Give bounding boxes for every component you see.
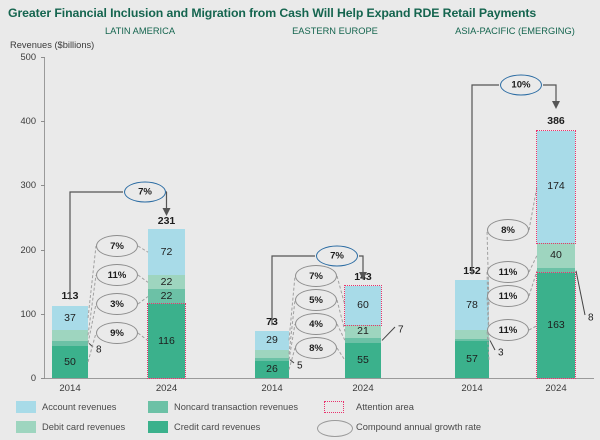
segment-cagr-badge-debit: 11% (96, 264, 138, 286)
legend-swatch-cagr-ellipse (317, 420, 353, 437)
segment-cagr-badge-noncard: 4% (295, 313, 337, 335)
chart-root: Greater Financial Inclusion and Migratio… (0, 0, 600, 440)
legend-label-attention-area: Attention area (356, 402, 414, 412)
segment-cagr-badge-noncard: 11% (487, 285, 529, 307)
legend-swatch-account (16, 401, 36, 413)
segment-cagr-badge-account: 7% (295, 265, 337, 287)
segment-cagr-badge-debit: 5% (295, 289, 337, 311)
legend-label-noncard: Noncard transaction revenues (174, 402, 298, 412)
legend-swatch-credit (148, 421, 168, 433)
legend: Account revenues Debit card revenues Non… (0, 396, 600, 440)
total-cagr-badge: 7% (124, 182, 166, 203)
legend-swatch-noncard (148, 401, 168, 413)
legend-label-account: Account revenues (42, 402, 116, 412)
segment-cagr-badge-credit: 11% (487, 319, 529, 341)
legend-swatch-debit (16, 421, 36, 433)
total-cagr-badge: 7% (316, 246, 358, 267)
segment-cagr-badge-noncard: 3% (96, 293, 138, 315)
legend-label-cagr: Compound annual growth rate (356, 422, 481, 432)
legend-label-debit: Debit card revenues (42, 422, 125, 432)
segment-cagr-badge-credit: 8% (295, 337, 337, 359)
segment-cagr-badge-debit: 11% (487, 261, 529, 283)
segment-cagr-badge-credit: 9% (96, 322, 138, 344)
total-cagr-badge: 10% (500, 75, 542, 96)
segment-cagr-badge-account: 8% (487, 219, 529, 241)
legend-label-credit: Credit card revenues (174, 422, 260, 432)
segment-cagr-badge-account: 7% (96, 235, 138, 257)
legend-swatch-attention-area (324, 401, 344, 413)
